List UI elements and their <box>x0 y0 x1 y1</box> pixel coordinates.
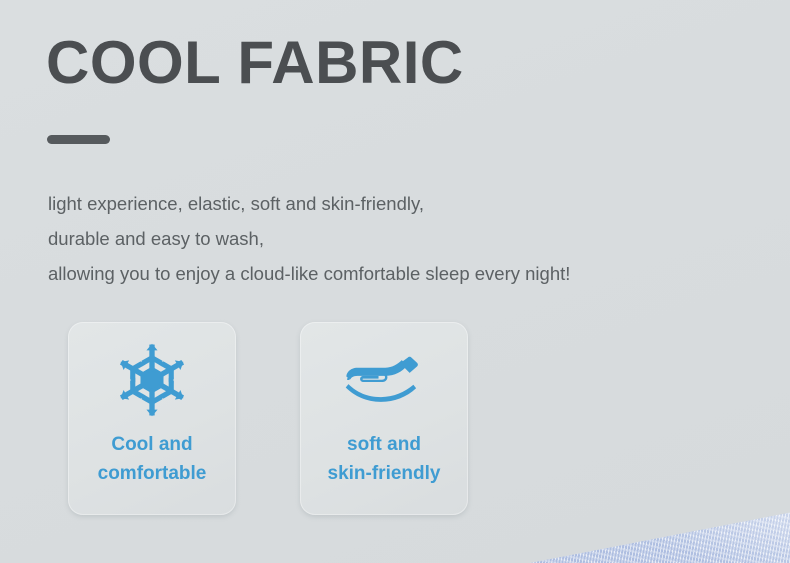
description-line-3: allowing you to enjoy a cloud-like comfo… <box>48 256 728 291</box>
snowflake-icon <box>115 340 189 420</box>
page-title: COOL FABRIC <box>46 33 464 93</box>
feature-card-soft-and-skin-friendly[interactable]: soft and skin-friendly <box>300 322 468 515</box>
description-block: light experience, elastic, soft and skin… <box>48 186 728 291</box>
description-line-2: durable and easy to wash, <box>48 221 728 256</box>
title-divider <box>47 135 110 144</box>
feature-card-list: Cool and comfortable soft and skin-frien… <box>68 322 468 515</box>
description-line-1: light experience, elastic, soft and skin… <box>48 186 728 221</box>
fabric-swatch-decoration <box>530 493 790 563</box>
hand-holding-fabric-icon <box>343 340 425 420</box>
feature-card-cool-and-comfortable[interactable]: Cool and comfortable <box>68 322 236 515</box>
cool-fabric-banner: COOL FABRIC light experience, elastic, s… <box>0 0 790 563</box>
feature-card-label: soft and skin-friendly <box>328 430 441 488</box>
feature-card-label: Cool and comfortable <box>98 430 207 488</box>
